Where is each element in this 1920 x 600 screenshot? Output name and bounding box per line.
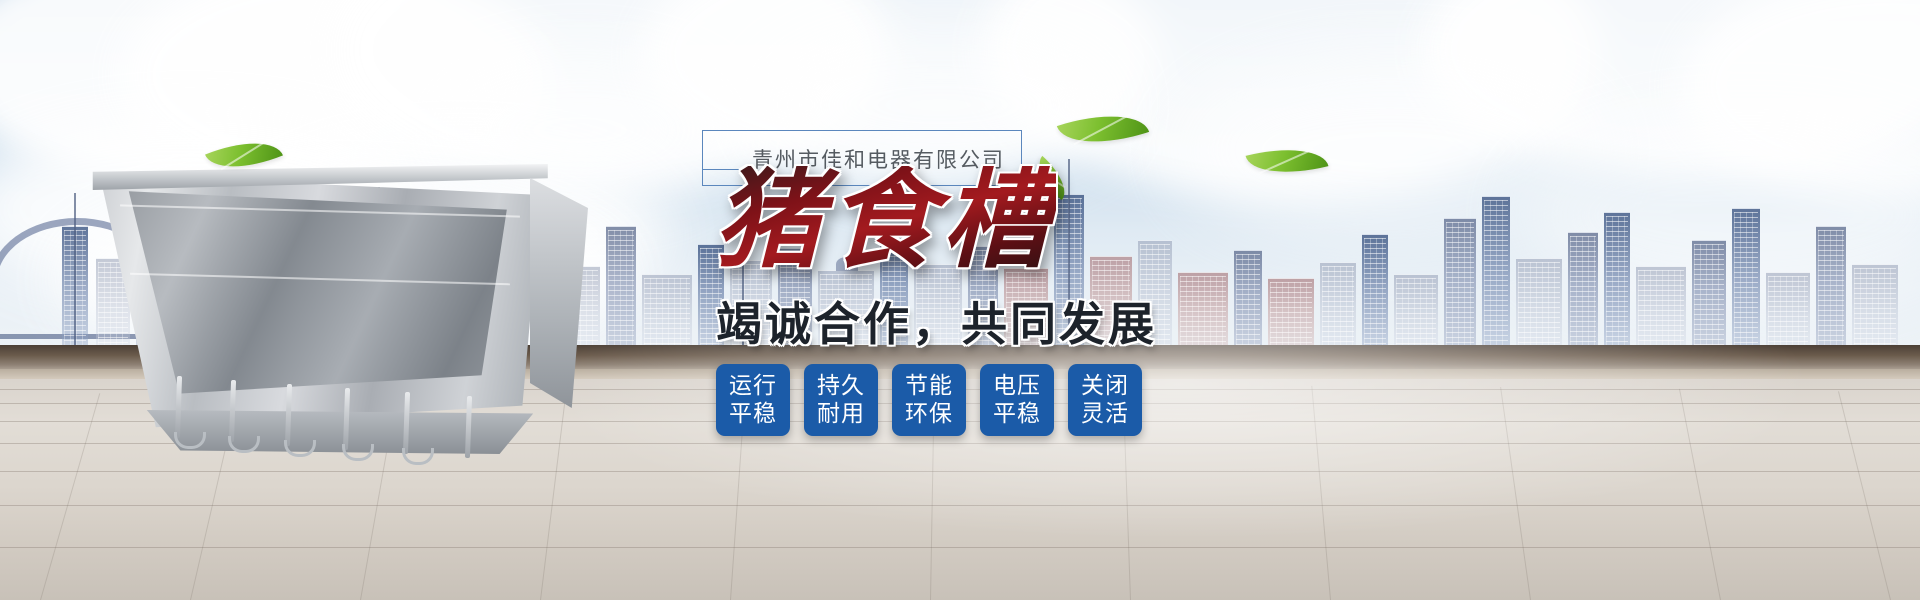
subtitle: 竭诚合作，共同发展 bbox=[716, 288, 1157, 354]
banner-copy: 青州市佳和电器有限公司 猪食槽 竭诚合作，共同发展 运行 平稳 持久 耐用 节能… bbox=[700, 96, 1400, 516]
feature-badge-5[interactable]: 关闭 灵活 bbox=[1068, 364, 1142, 436]
feature-badge-list: 运行 平稳 持久 耐用 节能 环保 电压 平稳 关闭 灵活 bbox=[716, 364, 1142, 436]
trough-loop bbox=[342, 444, 374, 461]
feature-badge-3[interactable]: 节能 环保 bbox=[892, 364, 966, 436]
building bbox=[1444, 218, 1476, 345]
building bbox=[1516, 258, 1562, 345]
feature-badge-1-line1: 运行 bbox=[729, 372, 777, 400]
feature-badge-3-line1: 节能 bbox=[905, 372, 953, 400]
building bbox=[1482, 196, 1510, 345]
building bbox=[1816, 226, 1846, 345]
feature-badge-3-line2: 环保 bbox=[905, 400, 953, 428]
building bbox=[1636, 266, 1686, 345]
building bbox=[1604, 212, 1630, 345]
feature-badge-2-line2: 耐用 bbox=[817, 400, 865, 428]
building bbox=[1692, 240, 1726, 345]
promo-banner: 青州市佳和电器有限公司 猪食槽 竭诚合作，共同发展 运行 平稳 持久 耐用 节能… bbox=[0, 0, 1920, 600]
building bbox=[1766, 272, 1810, 345]
feature-badge-2[interactable]: 持久 耐用 bbox=[804, 364, 878, 436]
stainless-steel-pig-feeding-trough bbox=[60, 160, 620, 490]
trough-loop bbox=[402, 448, 434, 465]
building bbox=[642, 274, 692, 345]
feature-badge-5-line1: 关闭 bbox=[1081, 372, 1129, 400]
feature-badge-1-line2: 平稳 bbox=[729, 400, 777, 428]
trough-loop bbox=[284, 440, 316, 457]
building bbox=[1732, 208, 1760, 345]
feature-badge-4-line2: 平稳 bbox=[993, 400, 1041, 428]
page-title: 猪食槽 bbox=[714, 166, 1056, 274]
building bbox=[1852, 264, 1898, 345]
feature-badge-2-line1: 持久 bbox=[817, 372, 865, 400]
building bbox=[1394, 274, 1438, 345]
feature-badge-5-line2: 灵活 bbox=[1081, 400, 1129, 428]
feature-badge-4-line1: 电压 bbox=[993, 372, 1041, 400]
trough-right-wall bbox=[530, 168, 588, 418]
feature-badge-4[interactable]: 电压 平稳 bbox=[980, 364, 1054, 436]
feature-badge-1[interactable]: 运行 平稳 bbox=[716, 364, 790, 436]
building bbox=[1568, 232, 1598, 345]
